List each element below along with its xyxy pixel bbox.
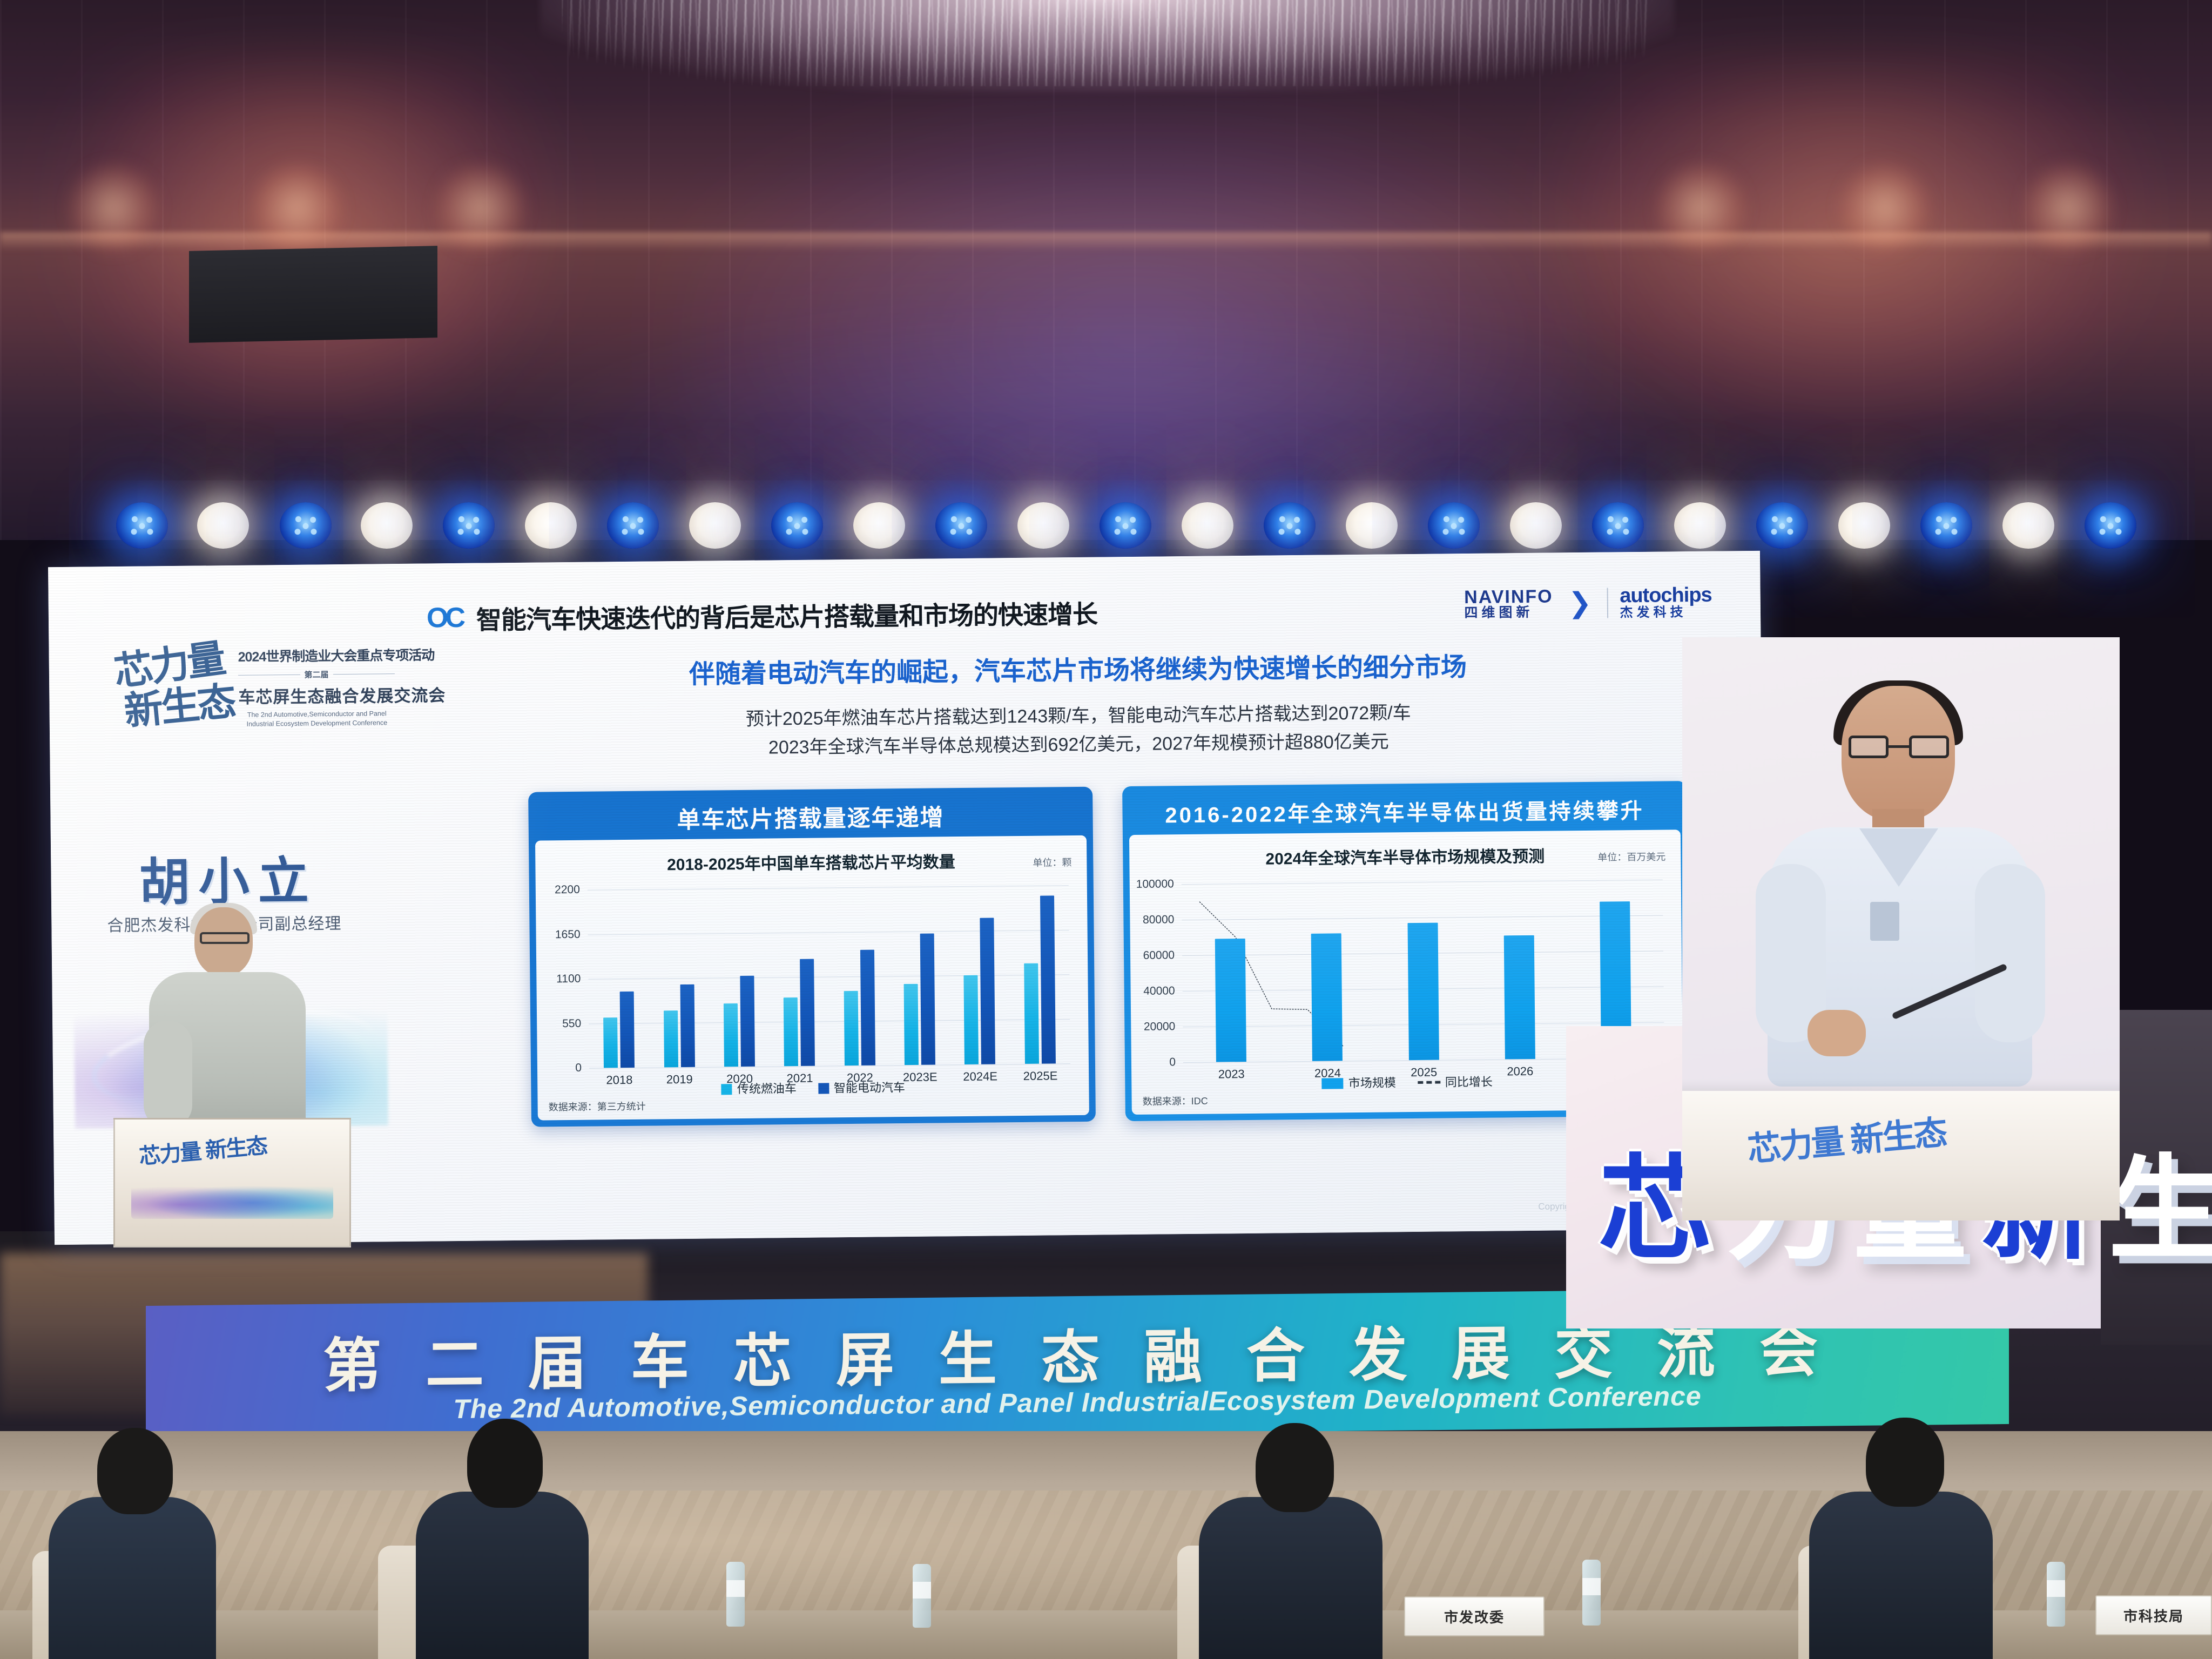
truss-lamp-white — [1838, 502, 1890, 549]
truss-lamp-white — [1510, 502, 1562, 549]
chandelier-beads — [562, 0, 1653, 86]
truss-lamp-blue — [1264, 502, 1316, 549]
slide-title: 智能汽车快速迭代的背后是芯片搭载量和市场的快速增长 — [476, 593, 1098, 636]
chart-card-left-body: 2018-2025年中国单车搭载芯片平均数量 单位：颗 220016501100… — [535, 835, 1089, 1121]
truss-lamp-white — [1346, 502, 1398, 549]
chart-right-source: 数据来源：IDC — [1143, 1094, 1208, 1108]
truss-lamp-blue — [935, 502, 987, 549]
bar-group — [1182, 883, 1279, 1062]
presenter-video-panel[interactable]: 芯力量 新生态 — [1682, 637, 2120, 1220]
glasses-lens-right — [1909, 736, 1949, 758]
truss-lamp-white — [853, 502, 905, 549]
lectern-logo: 芯力量 新生态 — [1745, 1105, 1948, 1171]
chart-left-plot: 2200165011005500 — [588, 885, 1070, 1068]
bar-group — [948, 886, 1010, 1064]
slide-kv-logo: 芯力量 新生态 — [113, 645, 228, 744]
bar-group — [588, 889, 650, 1068]
bar-group — [1470, 880, 1568, 1060]
bar-group — [768, 887, 830, 1066]
bar — [1311, 933, 1343, 1061]
truss-lamp-blue — [771, 502, 823, 549]
y-axis-tick-label: 2200 — [555, 884, 580, 896]
water-bottle — [913, 1564, 931, 1628]
bar — [603, 1017, 618, 1068]
presenter-figure — [1725, 686, 2071, 1085]
lighting-truss — [0, 502, 2212, 562]
bar — [680, 984, 694, 1067]
conference-english: The 2nd Automotive,Semiconductor and Pan… — [239, 709, 395, 729]
audience-member — [1193, 1427, 1388, 1659]
y-axis-tick-label: 40000 — [1143, 984, 1175, 998]
name-card: 市科技局 — [2095, 1595, 2212, 1635]
autochips-logo-en: autochips — [1620, 585, 1712, 606]
conference-identity-block: 2024世界制造业大会重点专项活动 第二届 车芯屏生态融合发展交流会 The 2… — [238, 645, 395, 729]
truss-lamp-blue — [1920, 502, 1972, 549]
legend-swatch-market-size — [1322, 1078, 1344, 1089]
stage-side-table — [189, 246, 437, 343]
chart-card-left-title: 单车芯片搭载量逐年递增 — [535, 793, 1087, 841]
legend-item-ev: 智能电动汽车 — [818, 1078, 905, 1096]
legend-item-market-size: 市场规模 — [1322, 1073, 1396, 1091]
truss-lamp-white — [1182, 502, 1233, 549]
chart-cards: 单车芯片搭载量逐年递增 2018-2025年中国单车搭载芯片平均数量 单位：颗 … — [528, 781, 1690, 1127]
truss-lamp-blue — [1756, 502, 1808, 549]
navinfo-logo-en: NAVINFO — [1464, 587, 1553, 606]
onstage-speaker-glasses-icon — [200, 932, 249, 944]
navinfo-logo: NAVINFO 四维图新 — [1464, 587, 1553, 621]
truss-lamp-white — [525, 502, 577, 549]
name-card: 市发改委 — [1404, 1596, 1545, 1636]
bar — [1040, 896, 1056, 1064]
water-bottle — [726, 1562, 745, 1627]
bar — [800, 959, 815, 1066]
legend-label-fuel: 传统燃油车 — [737, 1082, 797, 1096]
navinfo-logo-cn: 四维图新 — [1464, 606, 1553, 621]
conference-divider: 第二届 — [238, 668, 395, 681]
slide-content: OC 智能汽车快速迭代的背后是芯片搭载量和市场的快速增长 NAVINFO 四维图… — [394, 551, 1766, 1242]
autochips-logo: autochips 杰发科技 — [1620, 585, 1712, 620]
y-axis-tick-label: 80000 — [1143, 913, 1175, 927]
bar — [860, 949, 875, 1065]
logo-divider — [1607, 588, 1608, 618]
bar-group — [888, 886, 950, 1065]
bar — [784, 997, 798, 1066]
truss-lamp-blue — [116, 502, 168, 549]
bar — [1503, 935, 1535, 1060]
conference-hall-scene: 芯力量 新生态 芯 力 量 新 生 芯力量 新生态 2024世界制造业大会重点专… — [0, 0, 2212, 1659]
bar — [1407, 922, 1439, 1060]
y-axis-tick-label: 60000 — [1143, 949, 1175, 962]
autochips-logo-cn: 杰发科技 — [1620, 605, 1712, 619]
truss-lamp-white — [361, 502, 413, 549]
presenter-glasses-icon — [1849, 736, 1949, 758]
onstage-speaker: 芯力量 新生态 — [124, 907, 362, 1242]
bar — [964, 975, 979, 1064]
y-axis-tick-label: 20000 — [1144, 1020, 1176, 1034]
presenter-badge — [1870, 902, 1899, 941]
podium: 芯力量 新生态 — [113, 1118, 351, 1247]
divider-rule-left — [238, 675, 300, 676]
y-axis-tick-label: 0 — [575, 1062, 582, 1075]
bar-group-container — [588, 885, 1070, 1068]
ceiling-wash-light — [248, 162, 346, 254]
truss-lamp-white — [2002, 502, 2054, 549]
truss-lamp-blue — [2085, 502, 2136, 549]
bar — [664, 1010, 678, 1067]
y-axis-tick-label: 100000 — [1136, 878, 1174, 891]
podium-logo: 芯力量 新生态 — [138, 1128, 268, 1170]
truss-lamp-white — [689, 502, 741, 549]
bar — [620, 992, 635, 1068]
conference-line2: 车芯屏生态融合发展交流会 — [238, 682, 395, 708]
attendee-head — [467, 1419, 543, 1508]
chart-left-unit: 单位：颗 — [1033, 855, 1071, 869]
glasses-lens-left — [1849, 736, 1889, 758]
water-bottle — [2047, 1562, 2065, 1627]
truss-lamp-blue — [443, 502, 495, 549]
truss-lamp-blue — [607, 502, 659, 549]
legend-item-fuel: 传统燃油车 — [721, 1079, 797, 1097]
ceiling-wash-light — [1653, 162, 1750, 254]
presenter-hand — [1808, 1010, 1866, 1056]
y-axis-tick-label: 550 — [562, 1017, 581, 1030]
legend-swatch-ev — [818, 1083, 829, 1094]
y-axis-tick-label: 1100 — [556, 973, 581, 986]
onstage-speaker-arm — [144, 1021, 192, 1129]
podium-graphic-bar — [131, 1183, 333, 1219]
audience-member — [43, 1432, 221, 1659]
attendee-head — [1256, 1423, 1334, 1512]
attendee-head — [1866, 1418, 1944, 1507]
attendee-torso — [416, 1492, 589, 1659]
truss-lamp-blue — [1592, 502, 1644, 549]
ceiling-wash-light — [65, 162, 162, 254]
glasses-bridge — [1889, 745, 1909, 748]
chevron-right-icon: ❯ — [1568, 586, 1591, 619]
truss-lamp-white — [197, 502, 249, 549]
legend-item-growth: 同比增长 — [1418, 1073, 1493, 1090]
bar — [1024, 963, 1039, 1064]
y-axis-tick-label: 1650 — [555, 928, 581, 941]
conference-edition: 第二届 — [304, 669, 328, 680]
bar-group — [1008, 885, 1070, 1064]
bar-group — [648, 889, 710, 1068]
bar — [844, 991, 858, 1065]
partner-logos: NAVINFO 四维图新 ❯ autochips 杰发科技 — [1464, 585, 1712, 622]
bar-group — [708, 888, 770, 1067]
audience-member — [1804, 1421, 1998, 1659]
truss-lamp-white — [1017, 502, 1069, 549]
chart-right-unit: 单位：百万美元 — [1597, 849, 1665, 864]
bar-group — [1374, 881, 1472, 1061]
slide-bullets: 预计2025年燃油车芯片搭载达到1243颗/车，智能电动汽车芯片搭载达到2072… — [395, 696, 1762, 766]
legend-dash-growth — [1418, 1081, 1440, 1084]
truss-lamp-blue — [1428, 502, 1480, 549]
ceiling-wash-light — [1836, 162, 1933, 254]
truss-lamp-white — [1674, 502, 1726, 549]
attendee-head — [97, 1428, 173, 1514]
truss-lamp-blue — [280, 502, 332, 549]
legend-label-market-size: 市场规模 — [1348, 1076, 1396, 1090]
slide-subtitle: 伴随着电动汽车的崛起，汽车芯片市场将继续为快速增长的细分市场 — [395, 643, 1762, 693]
conference-line1: 2024世界制造业大会重点专项活动 — [238, 645, 394, 666]
legend-label-growth: 同比增长 — [1445, 1075, 1493, 1089]
chart-card-left: 单车芯片搭载量逐年递增 2018-2025年中国单车搭载芯片平均数量 单位：颗 … — [528, 787, 1096, 1127]
autochips-oc-icon: OC — [427, 602, 463, 635]
bar — [1215, 939, 1246, 1062]
bar-group — [828, 887, 890, 1065]
y-axis-tick-label: 0 — [1169, 1056, 1176, 1069]
attendee-torso — [1809, 1492, 1993, 1659]
ceiling-wash-light — [432, 162, 529, 254]
chart-card-right-title: 2016-2022年全球汽车半导体出货量持续攀升 — [1129, 787, 1681, 835]
presenter-lectern: 芯力量 新生态 — [1682, 1091, 2120, 1220]
legend-label-ev: 智能电动汽车 — [834, 1081, 905, 1095]
attendee-torso — [49, 1497, 216, 1659]
audience-member — [410, 1421, 594, 1659]
bar — [724, 1003, 738, 1067]
water-bottle — [1582, 1560, 1601, 1626]
truss-lamp-blue — [1100, 502, 1151, 549]
bar — [920, 934, 935, 1065]
legend-swatch-fuel — [721, 1084, 732, 1095]
ceiling-wash-light — [2020, 162, 2117, 254]
attendee-torso — [1199, 1497, 1382, 1659]
chart-left-title: 2018-2025年中国单车搭载芯片平均数量 — [535, 847, 1087, 876]
bar — [740, 976, 755, 1067]
stage-letter-5: 生 — [2108, 1156, 2212, 1264]
presenter-arm-right — [1975, 864, 2045, 1042]
divider-rule-right — [333, 673, 395, 675]
bar — [980, 918, 996, 1064]
chart-left-source: 数据来源：第三方统计 — [549, 1099, 646, 1114]
bar-group — [1278, 882, 1375, 1062]
bar — [904, 984, 919, 1065]
slide-kv-line2: 新生态 — [123, 682, 239, 731]
